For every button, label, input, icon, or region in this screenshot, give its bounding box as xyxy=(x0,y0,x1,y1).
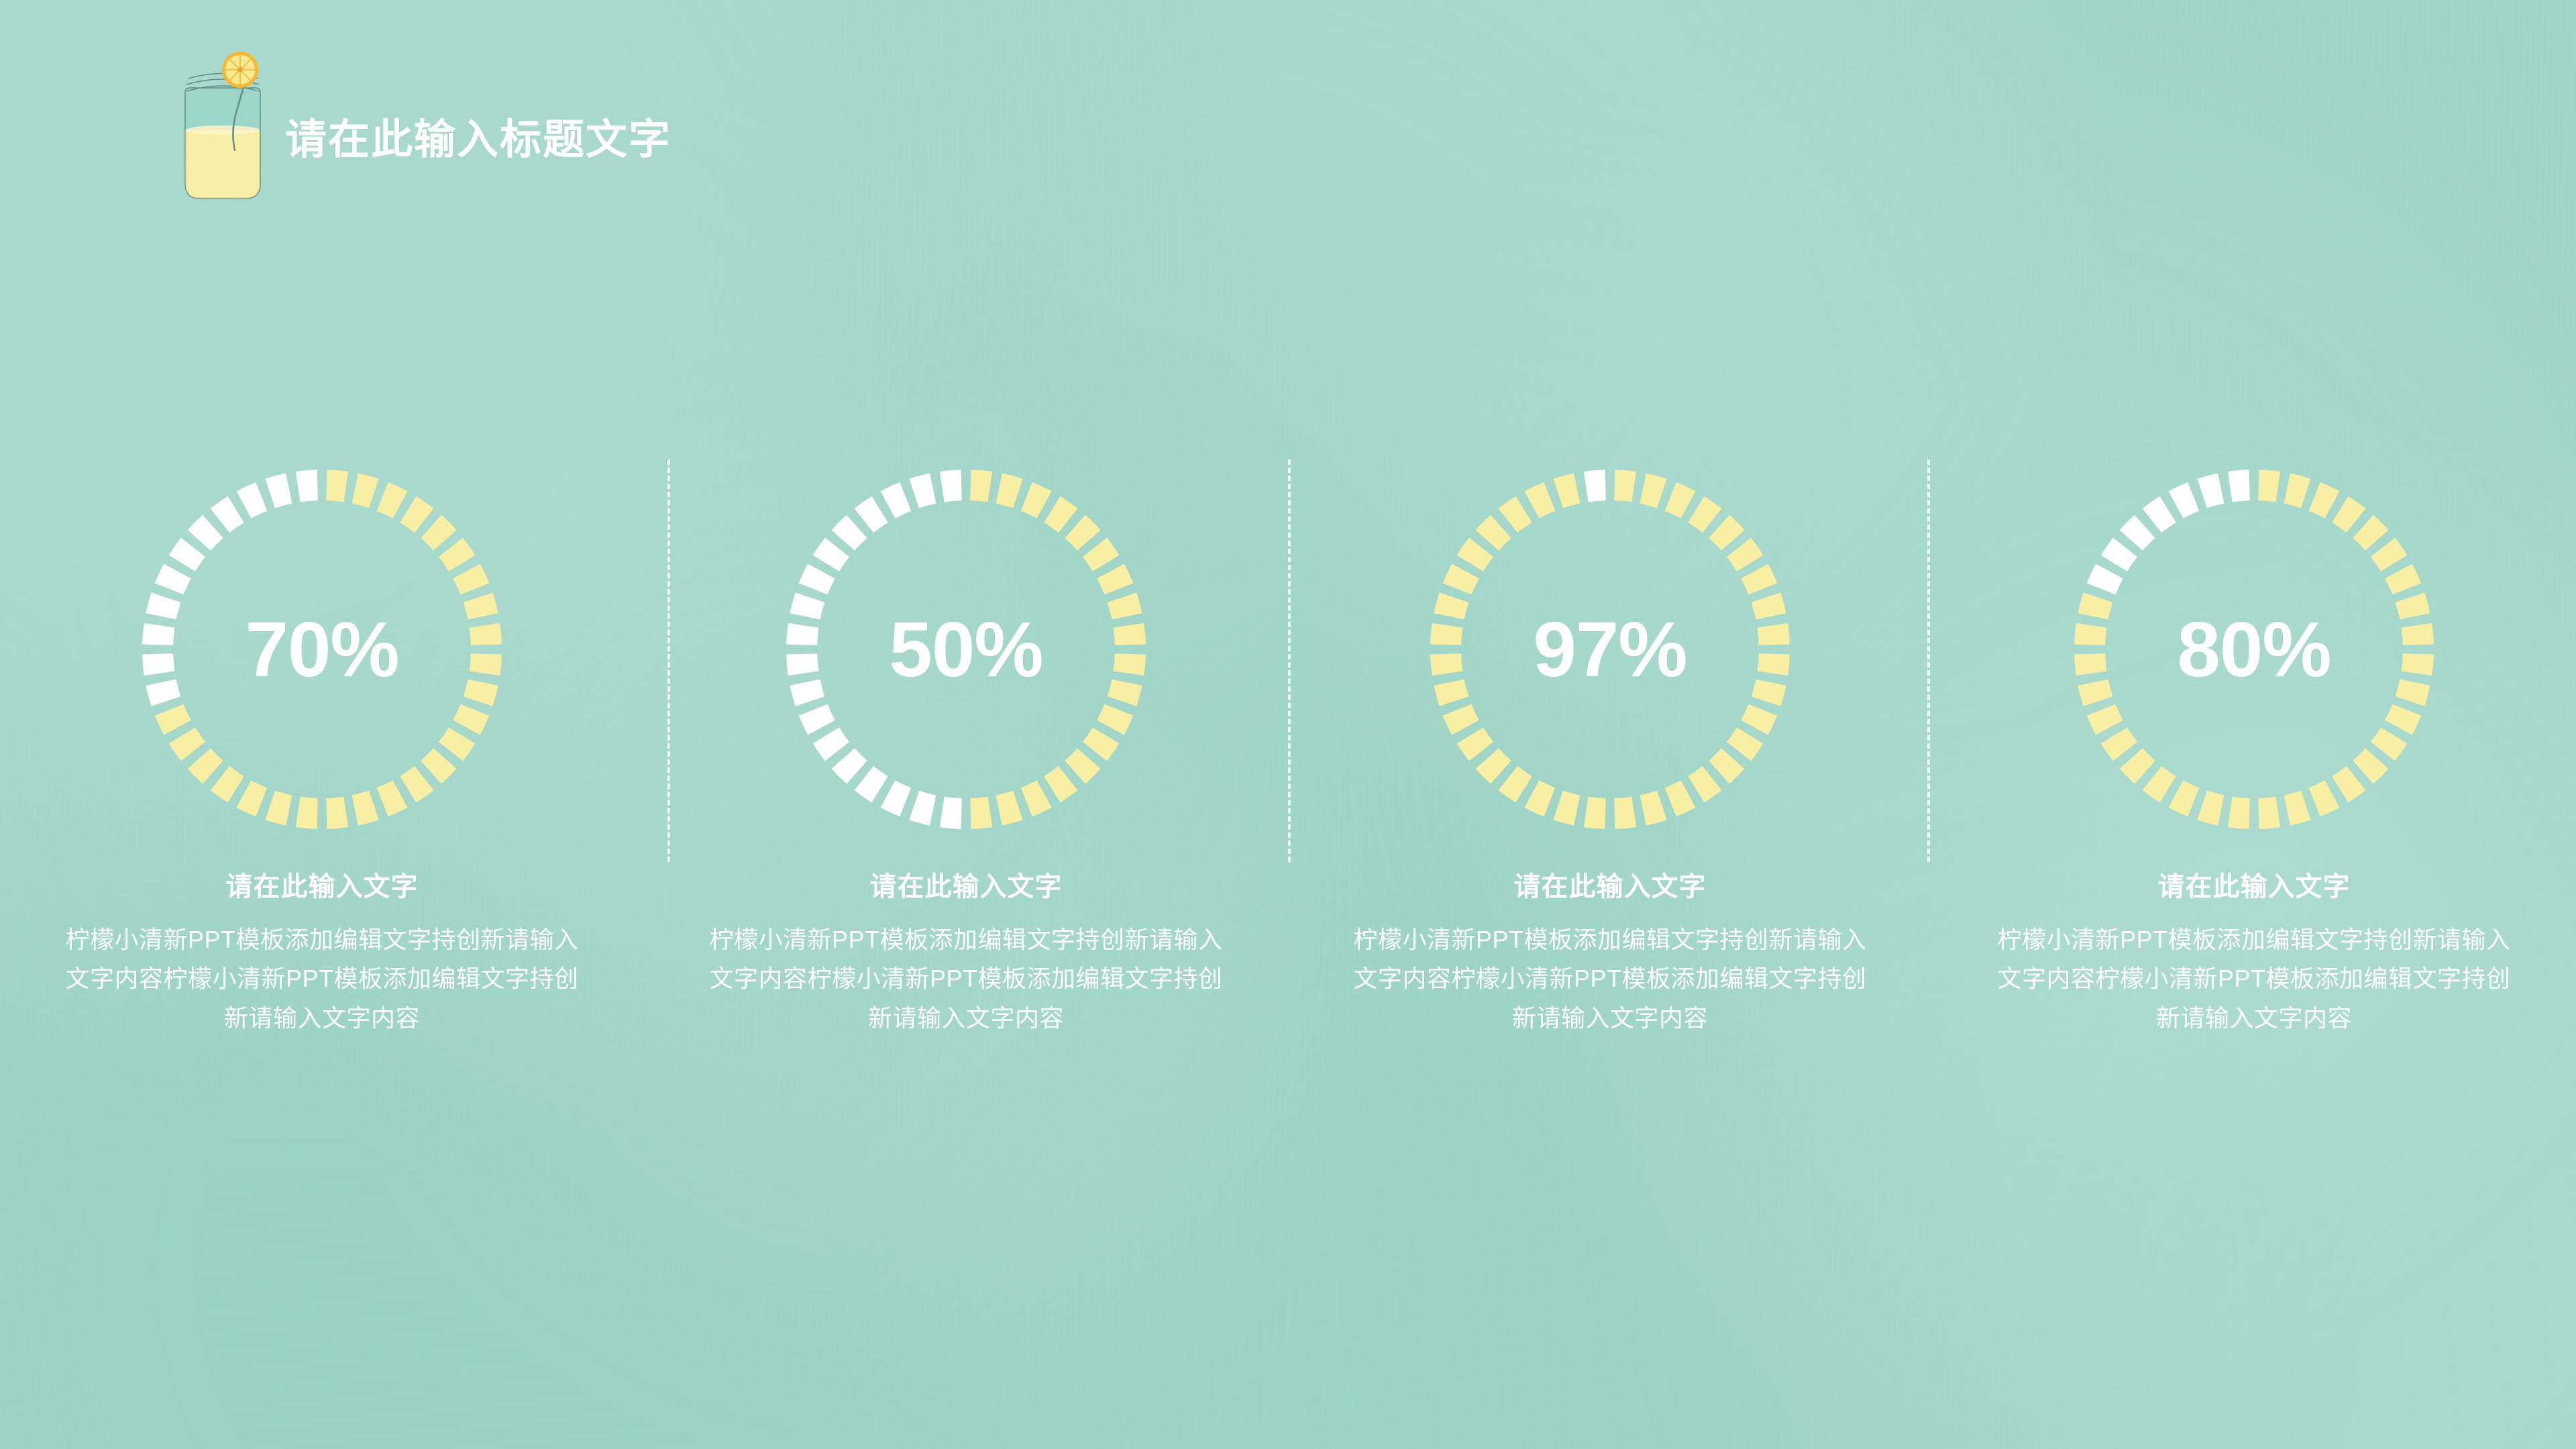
progress-ring-value: 80% xyxy=(2066,462,2442,837)
lemonade-jar-icon xyxy=(176,51,270,205)
stat-column: 50% 请在此输入文字 柠檬小清新PPT模板添加编辑文字持创新请输入文字内容柠檬… xyxy=(644,443,1288,1194)
progress-ring-value: 97% xyxy=(1422,462,1798,837)
stat-column: 97% 请在此输入文字 柠檬小清新PPT模板添加编辑文字持创新请输入文字内容柠檬… xyxy=(1288,443,1932,1194)
column-body-text: 柠檬小清新PPT模板添加编辑文字持创新请输入文字内容柠檬小清新PPT模板添加编辑… xyxy=(1342,920,1878,1038)
column-heading: 请在此输入文字 xyxy=(870,873,1063,900)
slide-header: 请在此输入标题文字 xyxy=(0,0,2576,228)
columns-container: 70% 请在此输入文字 柠檬小清新PPT模板添加编辑文字持创新请输入文字内容柠檬… xyxy=(0,443,2576,1194)
column-heading: 请在此输入文字 xyxy=(226,873,419,900)
progress-ring-value: 70% xyxy=(134,462,510,837)
stat-column: 70% 请在此输入文字 柠檬小清新PPT模板添加编辑文字持创新请输入文字内容柠檬… xyxy=(0,443,644,1194)
column-heading: 请在此输入文字 xyxy=(1514,873,1707,900)
progress-ring-value: 50% xyxy=(778,462,1154,837)
page-title: 请在此输入标题文字 xyxy=(285,119,672,161)
column-body-text: 柠檬小清新PPT模板添加编辑文字持创新请输入文字内容柠檬小清新PPT模板添加编辑… xyxy=(698,920,1234,1038)
progress-ring: 70% xyxy=(134,462,510,837)
progress-ring: 97% xyxy=(1422,462,1798,837)
progress-ring: 80% xyxy=(2066,462,2442,837)
column-heading: 请在此输入文字 xyxy=(2158,873,2351,900)
column-body-text: 柠檬小清新PPT模板添加编辑文字持创新请输入文字内容柠檬小清新PPT模板添加编辑… xyxy=(1986,920,2522,1038)
stat-column: 80% 请在此输入文字 柠檬小清新PPT模板添加编辑文字持创新请输入文字内容柠檬… xyxy=(1932,443,2576,1194)
column-body-text: 柠檬小清新PPT模板添加编辑文字持创新请输入文字内容柠檬小清新PPT模板添加编辑… xyxy=(54,920,590,1038)
progress-ring: 50% xyxy=(778,462,1154,837)
slide-canvas: 请在此输入标题文字 70% 请在此输入文字 柠檬小清新PPT模板添加编辑文字持创… xyxy=(0,0,2576,1449)
